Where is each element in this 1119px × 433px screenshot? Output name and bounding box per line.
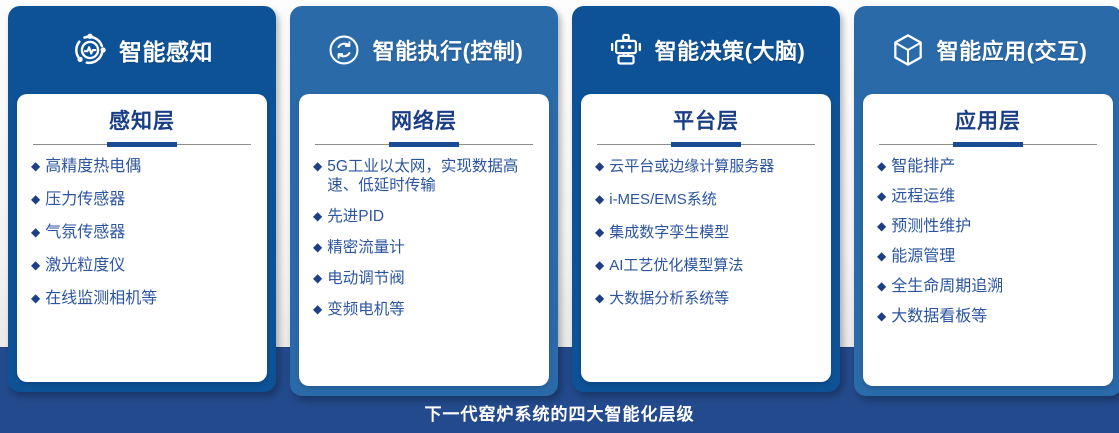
list-item-label: 大数据分析系统等 [609,289,819,308]
diamond-bullet-icon: ◆ [31,256,40,275]
diamond-bullet-icon: ◆ [877,307,886,326]
rule-accent-segment [671,142,741,147]
list-item: ◆高精度热电偶 [31,157,255,176]
card-header-title: 智能感知 [119,33,213,67]
list-item-label: 集成数字孪生模型 [609,223,819,242]
rule-accent-segment [953,142,1023,147]
title-underline [597,142,815,147]
list-item: ◆大数据看板等 [877,307,1101,326]
title-underline [879,142,1097,147]
robot-head-icon [607,31,645,69]
list-item: ◆集成数字孪生模型 [595,223,819,242]
list-item-label: 大数据看板等 [891,307,1101,326]
cube-box-icon [889,31,927,69]
card-intelligent-decision[interactable]: 智能决策(大脑) 平台层 ◆云平台或边缘计算服务器 ◆i-MES/EMS系统 ◆… [572,6,840,392]
layer-title: 应用层 [863,108,1113,136]
feature-list: ◆5G工业以太网，实现数据高速、低延时传输 ◆先进PID ◆精密流量计 ◆电动调… [299,157,549,319]
diamond-bullet-icon: ◆ [877,277,886,296]
list-item: ◆全生命周期追溯 [877,277,1101,296]
list-item: ◆i-MES/EMS系统 [595,190,819,209]
card-intelligent-execution[interactable]: 智能执行(控制) 网络层 ◆5G工业以太网，实现数据高速、低延时传输 ◆先进PI… [290,6,558,396]
rule-accent-segment [389,142,459,147]
diamond-bullet-icon: ◆ [31,190,40,209]
layer-title: 感知层 [17,108,267,136]
diamond-bullet-icon: ◆ [595,190,604,209]
diamond-bullet-icon: ◆ [313,238,322,257]
list-item-label: 全生命周期追溯 [891,277,1101,296]
list-item: ◆气氛传感器 [31,223,255,242]
diamond-bullet-icon: ◆ [595,256,604,275]
list-item-label: i-MES/EMS系统 [609,190,819,209]
card-intelligent-application[interactable]: 智能应用(交互) 应用层 ◆智能排产 ◆远程运维 ◆预测性维护 ◆能源管理 ◆全… [854,6,1119,396]
feature-list: ◆云平台或边缘计算服务器 ◆i-MES/EMS系统 ◆集成数字孪生模型 ◆AI工… [581,157,831,308]
card-header: 智能决策(大脑) [572,6,840,94]
list-item: ◆先进PID [313,207,537,226]
layer-title: 平台层 [581,108,831,136]
list-item: ◆电动调节阀 [313,269,537,288]
list-item-label: 高精度热电偶 [45,157,255,176]
title-underline [33,142,251,147]
card-header-title: 智能决策(大脑) [655,34,806,66]
list-item: ◆AI工艺优化模型算法 [595,256,819,275]
list-item: ◆预测性维护 [877,217,1101,236]
diamond-bullet-icon: ◆ [595,157,604,176]
list-item: ◆智能排产 [877,157,1101,176]
diamond-bullet-icon: ◆ [31,223,40,242]
diamond-bullet-icon: ◆ [877,247,886,266]
list-item-label: 压力传感器 [45,190,255,209]
rule-accent-segment [107,142,177,147]
list-item-label: 远程运维 [891,187,1101,206]
card-header: 智能应用(交互) [854,6,1119,94]
card-header-title: 智能应用(交互) [937,34,1088,66]
diamond-bullet-icon: ◆ [313,269,322,288]
list-item-label: 气氛传感器 [45,223,255,242]
diamond-bullet-icon: ◆ [877,157,886,176]
card-header: 智能感知 [8,6,276,94]
list-item-label: 电动调节阀 [327,269,537,288]
list-item: ◆ 变频电机等 [313,300,537,319]
layer-title: 网络层 [299,108,549,136]
list-item: ◆5G工业以太网，实现数据高速、低延时传输 [313,157,537,195]
list-item-label: 预测性维护 [891,217,1101,236]
card-header: 智能执行(控制) [290,6,558,94]
diamond-bullet-icon: ◆ [595,223,604,242]
list-item: ◆大数据分析系统等 [595,289,819,308]
feature-list: ◆高精度热电偶 ◆压力传感器 ◆气氛传感器 ◆激光粒度仪 ◆在线监测相机等 [17,157,267,308]
sensor-pulse-icon [71,31,109,69]
list-item-label: AI工艺优化模型算法 [609,256,819,275]
diamond-bullet-icon: ◆ [313,157,322,176]
card-intelligent-sensing[interactable]: 智能感知 感知层 ◆高精度热电偶 ◆压力传感器 ◆气氛传感器 ◆激光粒度仪 ◆在… [8,6,276,392]
list-item-label: 激光粒度仪 [45,256,255,275]
refresh-cycle-icon [325,31,363,69]
list-item-label: 变频电机等 [327,300,537,319]
diamond-bullet-icon: ◆ [595,289,604,308]
list-item-label: 在线监测相机等 [45,289,255,308]
list-item: ◆激光粒度仪 [31,256,255,275]
card-panel: 应用层 ◆智能排产 ◆远程运维 ◆预测性维护 ◆能源管理 ◆全生命周期追溯 ◆大… [863,94,1113,386]
diamond-bullet-icon: ◆ [313,207,322,226]
list-item-label: 云平台或边缘计算服务器 [609,157,819,176]
list-item-label: 精密流量计 [327,238,537,257]
diamond-bullet-icon: ◆ [877,217,886,236]
card-panel: 感知层 ◆高精度热电偶 ◆压力传感器 ◆气氛传感器 ◆激光粒度仪 ◆在线监测相机… [17,94,267,382]
diamond-bullet-icon: ◆ [31,157,40,176]
list-item-label: 先进PID [327,207,537,226]
diamond-bullet-icon: ◆ [877,187,886,206]
card-header-title: 智能执行(控制) [373,34,524,66]
card-panel: 网络层 ◆5G工业以太网，实现数据高速、低延时传输 ◆先进PID ◆精密流量计 … [299,94,549,386]
list-item: ◆压力传感器 [31,190,255,209]
card-panel: 平台层 ◆云平台或边缘计算服务器 ◆i-MES/EMS系统 ◆集成数字孪生模型 … [581,94,831,382]
list-item-label: 能源管理 [891,247,1101,266]
list-item-label: 智能排产 [891,157,1101,176]
card-row: 智能感知 感知层 ◆高精度热电偶 ◆压力传感器 ◆气氛传感器 ◆激光粒度仪 ◆在… [0,0,1119,400]
feature-list: ◆智能排产 ◆远程运维 ◆预测性维护 ◆能源管理 ◆全生命周期追溯 ◆大数据看板… [863,157,1113,326]
diamond-bullet-icon: ◆ [31,289,40,308]
list-item: ◆远程运维 [877,187,1101,206]
infographic-canvas: 智能感知 感知层 ◆高精度热电偶 ◆压力传感器 ◆气氛传感器 ◆激光粒度仪 ◆在… [0,0,1119,433]
list-item-label: 5G工业以太网，实现数据高速、低延时传输 [327,157,537,195]
list-item: ◆在线监测相机等 [31,289,255,308]
footer-caption: 下一代窑炉系统的四大智能化层级 [0,400,1119,425]
diamond-bullet-icon: ◆ [313,300,322,319]
title-underline [315,142,533,147]
list-item: ◆能源管理 [877,247,1101,266]
list-item: ◆精密流量计 [313,238,537,257]
list-item: ◆云平台或边缘计算服务器 [595,157,819,176]
